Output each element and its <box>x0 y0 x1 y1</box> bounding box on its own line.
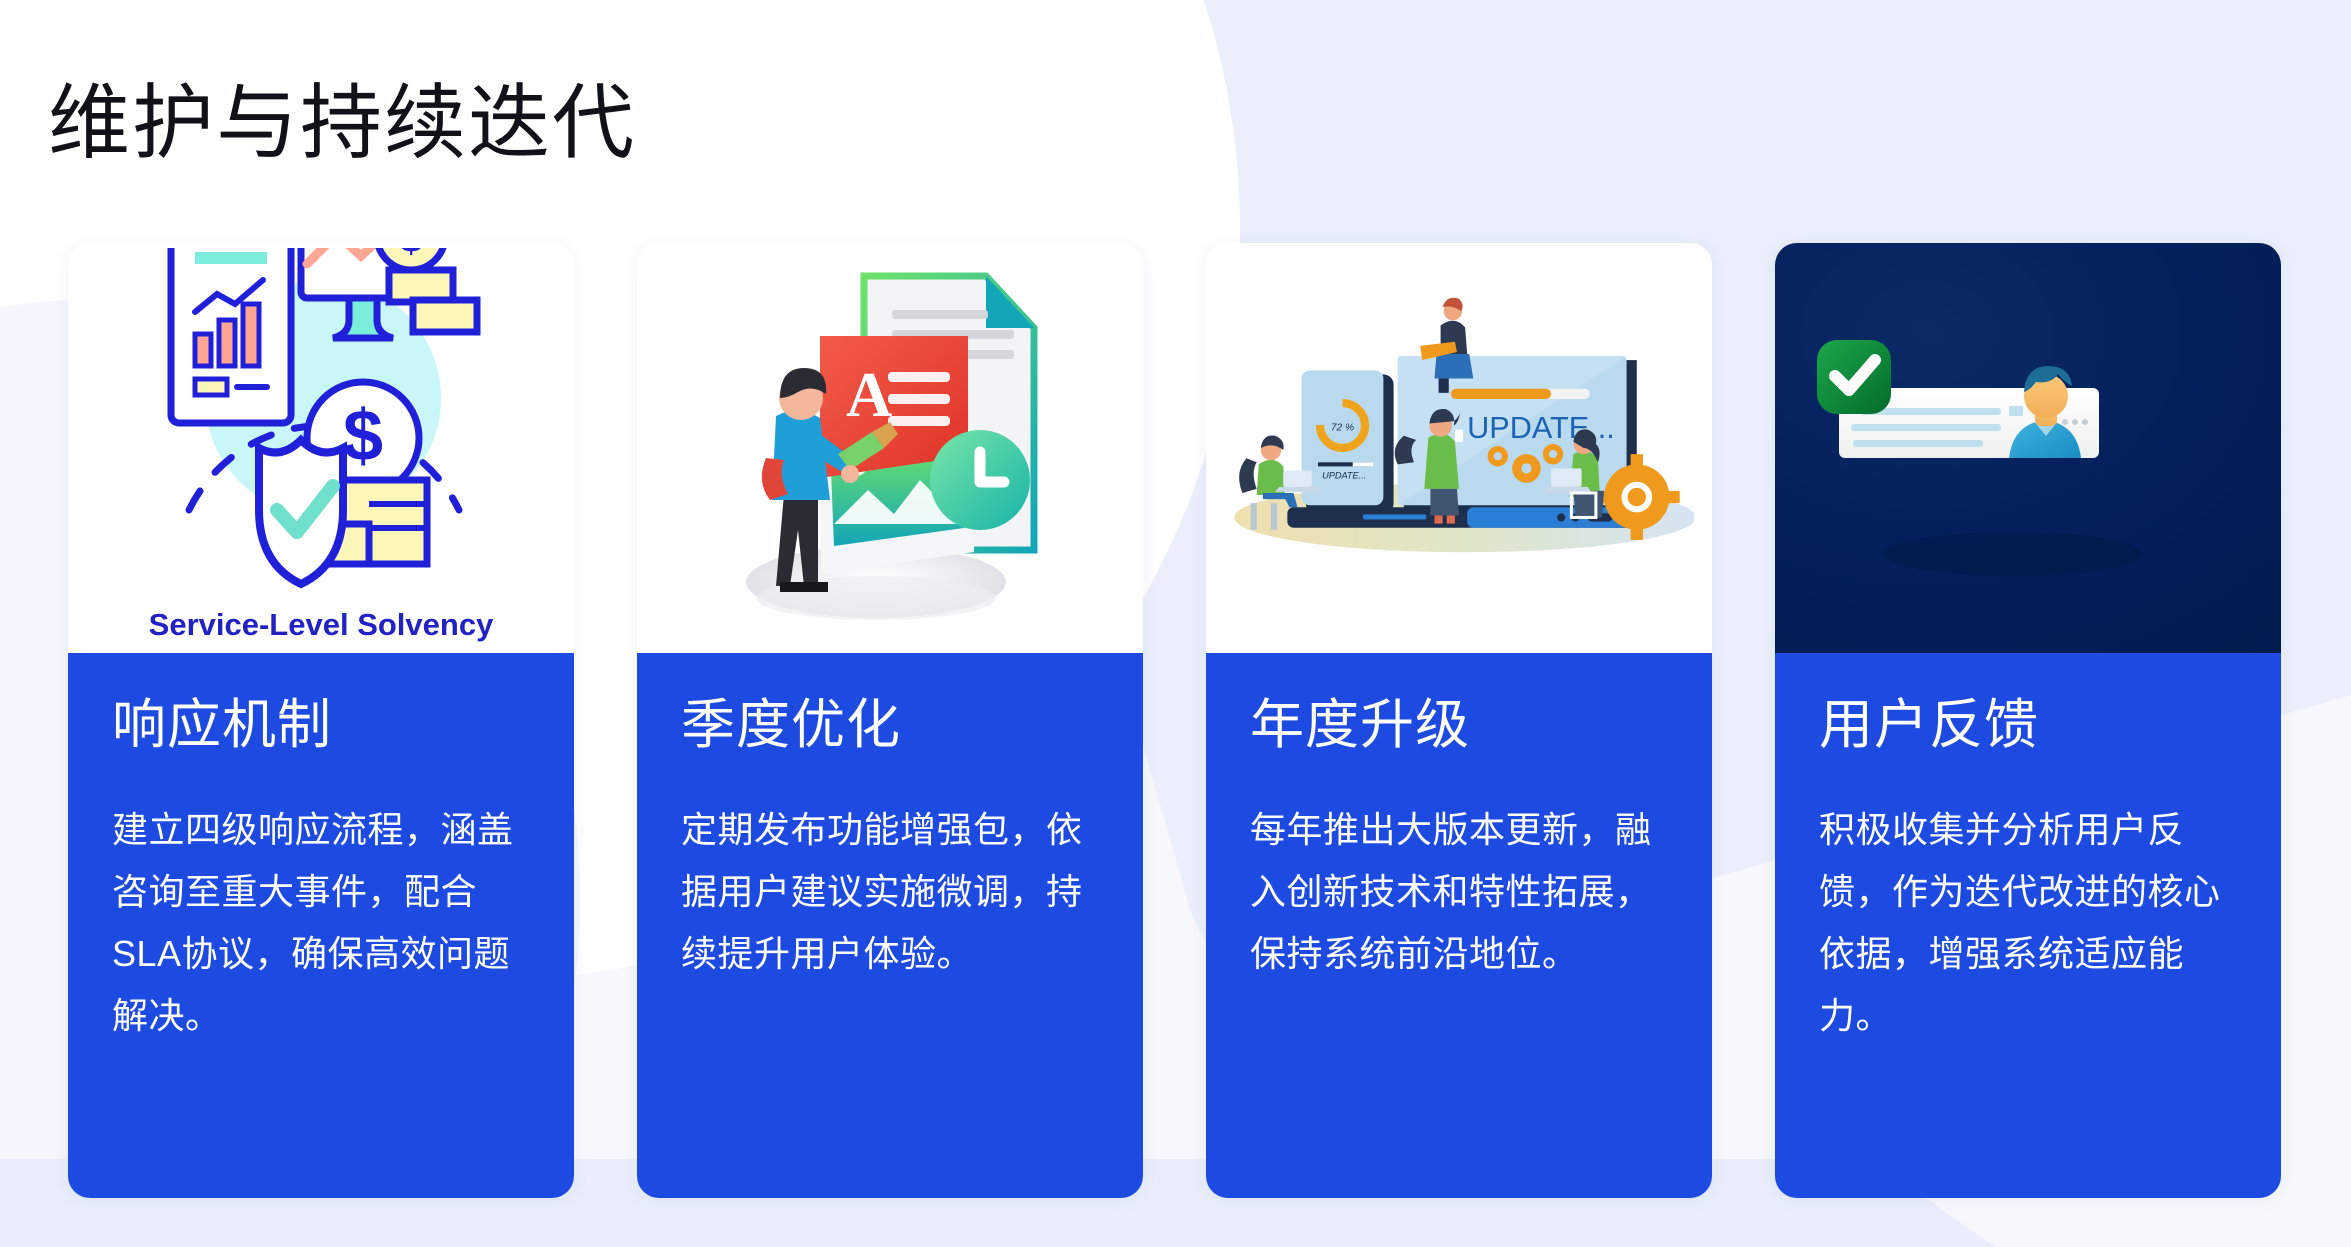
card-body-user-feedback: 用户反馈 积极收集并分析用户反馈，作为迭代改进的核心依据，增强系统适应能力。 <box>1775 653 2281 1198</box>
card-body-annual-upgrade: 年度升级 每年推出大版本更新，融入创新技术和特性拓展，保持系统前沿地位。 <box>1206 653 1712 1198</box>
system-update-icon: 72 % UPDATE... UPDATE... <box>1224 274 1694 622</box>
card-heading: 年度升级 <box>1250 695 1668 755</box>
card-annual-upgrade[interactable]: 72 % UPDATE... UPDATE... <box>1206 243 1712 1198</box>
card-description: 定期发布功能增强包，依据用户建议实施微调，持续提升用户体验。 <box>681 799 1099 985</box>
card-heading: 季度优化 <box>681 695 1099 755</box>
illustration-caption: Service-Level Solvency <box>111 607 531 644</box>
card-illustration-user-feedback <box>1775 243 2281 653</box>
service-level-solvency-icon: $ $ <box>111 248 531 648</box>
phone-update-label: UPDATE... <box>1322 471 1366 481</box>
card-illustration-service-level-solvency: $ $ Service-Level Solvency <box>68 243 574 653</box>
card-illustration-content-editing: A <box>637 243 1143 653</box>
card-description: 建立四级响应流程，涵盖咨询至重大事件，配合SLA协议，确保高效问题解决。 <box>112 799 530 1047</box>
phone-progress-label: 72 % <box>1331 423 1354 434</box>
card-illustration-system-update: 72 % UPDATE... UPDATE... <box>1206 243 1712 653</box>
svg-text:A: A <box>846 359 892 430</box>
svg-text:$: $ <box>399 248 422 261</box>
svg-text:$: $ <box>343 396 383 476</box>
card-heading: 响应机制 <box>112 695 530 755</box>
card-quarterly-optimization[interactable]: A <box>637 243 1143 1198</box>
card-response-mechanism[interactable]: $ $ Service-Level Solvency <box>68 243 574 1198</box>
card-body-response-mechanism: 响应机制 建立四级响应流程，涵盖咨询至重大事件，配合SLA协议，确保高效问题解决… <box>68 653 574 1198</box>
card-user-feedback[interactable]: 用户反馈 积极收集并分析用户反馈，作为迭代改进的核心依据，增强系统适应能力。 <box>1775 243 2281 1198</box>
card-description: 积极收集并分析用户反馈，作为迭代改进的核心依据，增强系统适应能力。 <box>1819 799 2237 1047</box>
card-grid: $ $ Service-Level Solvency <box>68 243 2281 1198</box>
content-editing-icon: A <box>675 248 1105 648</box>
card-body-quarterly-optimization: 季度优化 定期发布功能增强包，依据用户建议实施微调，持续提升用户体验。 <box>637 653 1143 1198</box>
user-feedback-icon <box>1813 318 2243 578</box>
card-heading: 用户反馈 <box>1819 695 2237 755</box>
page-title: 维护与持续迭代 <box>48 77 636 171</box>
card-description: 每年推出大版本更新，融入创新技术和特性拓展，保持系统前沿地位。 <box>1250 799 1668 985</box>
